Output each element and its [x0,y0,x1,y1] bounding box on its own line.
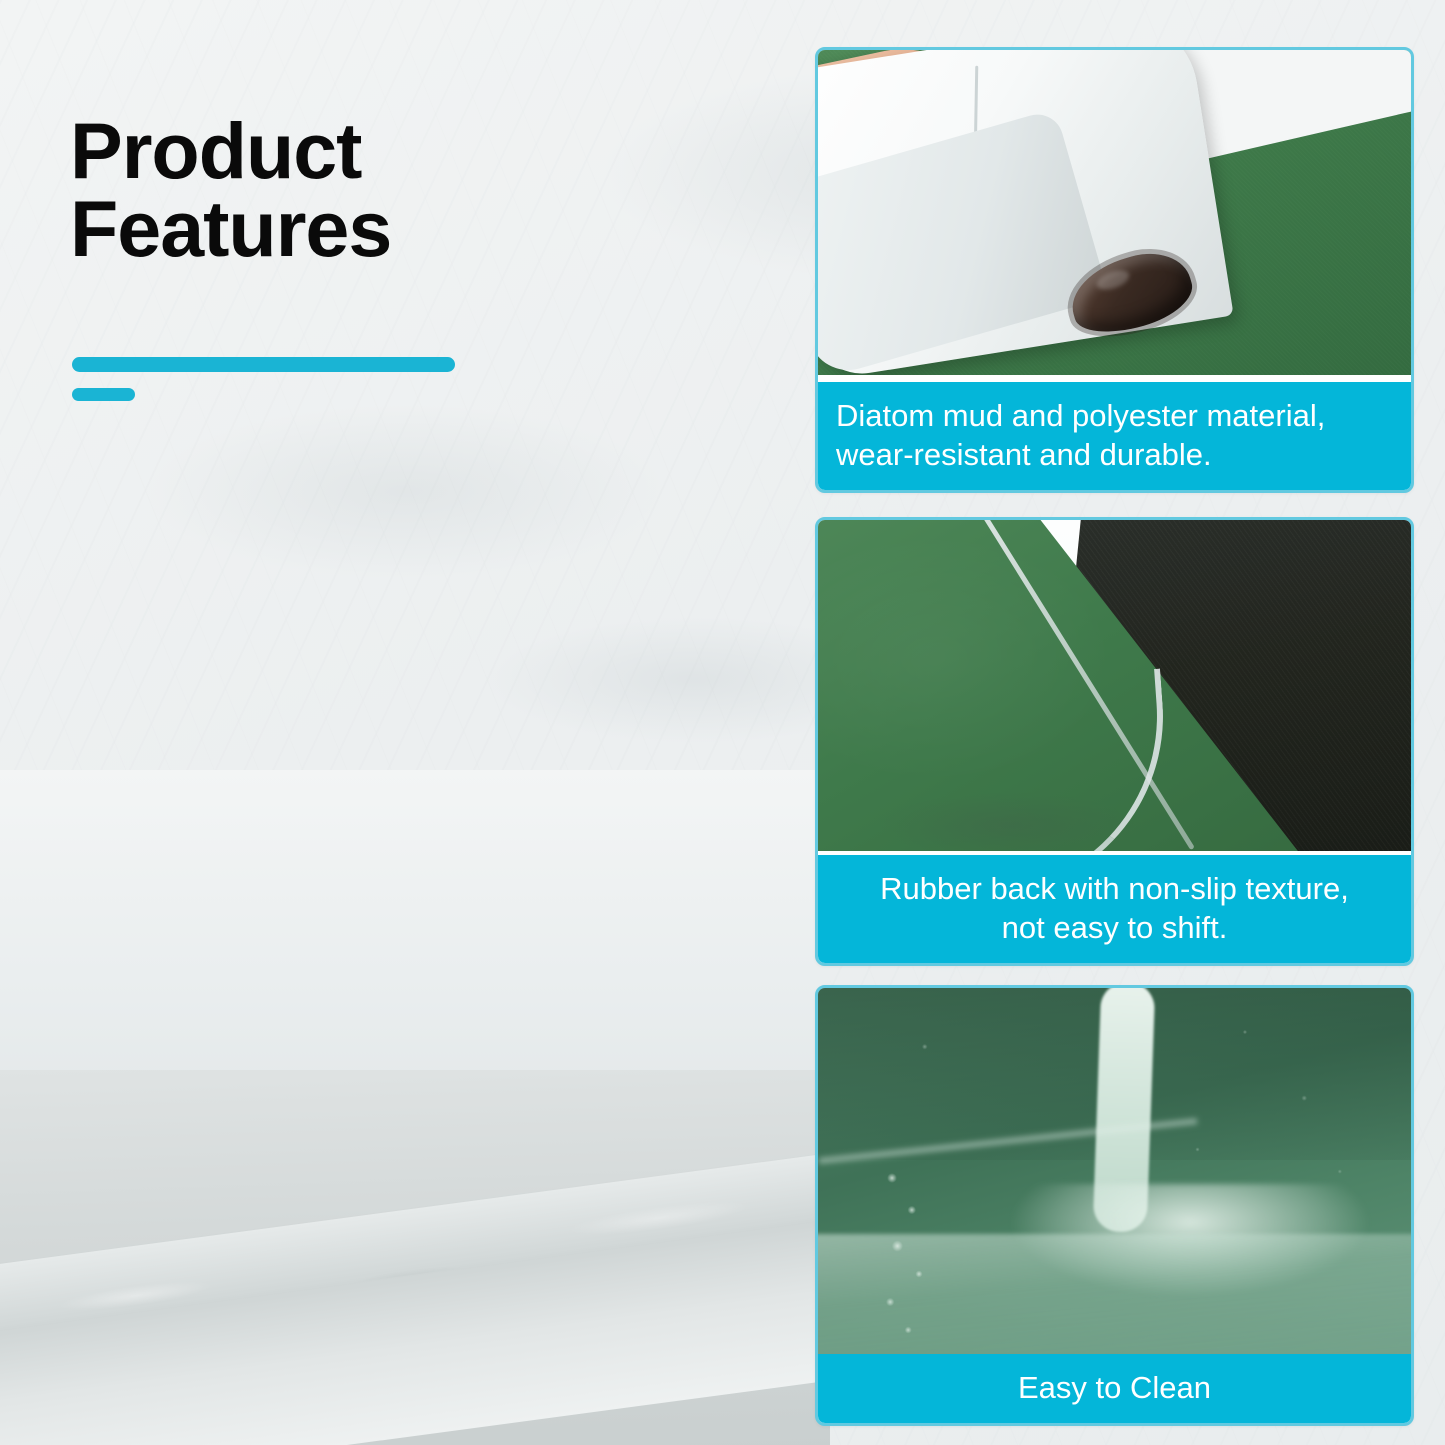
caption-line: not easy to shift. [836,908,1393,947]
page-title: Product Features [70,112,730,268]
infographic-canvas: Product Features [0,0,1445,1445]
caption-line: wear-resistant and durable. [836,435,1393,474]
feature-panel-rubber-back: Rubber back with non-slip texture, not e… [815,517,1414,966]
feature-caption-rubber-back: Rubber back with non-slip texture, not e… [818,855,1411,963]
mat-drop-shadow [828,770,1188,851]
feature-photo-material [818,50,1411,375]
page-title-line-2: Features [70,190,730,268]
hero-foreground-clip [0,770,830,1445]
feature-caption-material: Diatom mud and polyester material, wear-… [818,382,1411,490]
page-title-line-1: Product [70,106,361,195]
caption-line: Diatom mud and polyester material, [836,396,1393,435]
caption-line: Rubber back with non-slip texture, [836,869,1393,908]
feature-caption-easy-clean: Easy to Clean [818,1354,1411,1423]
feature-panel-easy-clean: Easy to Clean [815,985,1414,1426]
title-underline-long [72,357,455,372]
caption-line: Easy to Clean [836,1368,1393,1407]
feature-photo-rubber-back [818,520,1411,851]
feature-panel-material: Diatom mud and polyester material, wear-… [815,47,1414,493]
feature-photo-easy-clean [818,988,1411,1355]
title-underline-short [72,388,135,401]
water-bubbles [865,1158,955,1355]
